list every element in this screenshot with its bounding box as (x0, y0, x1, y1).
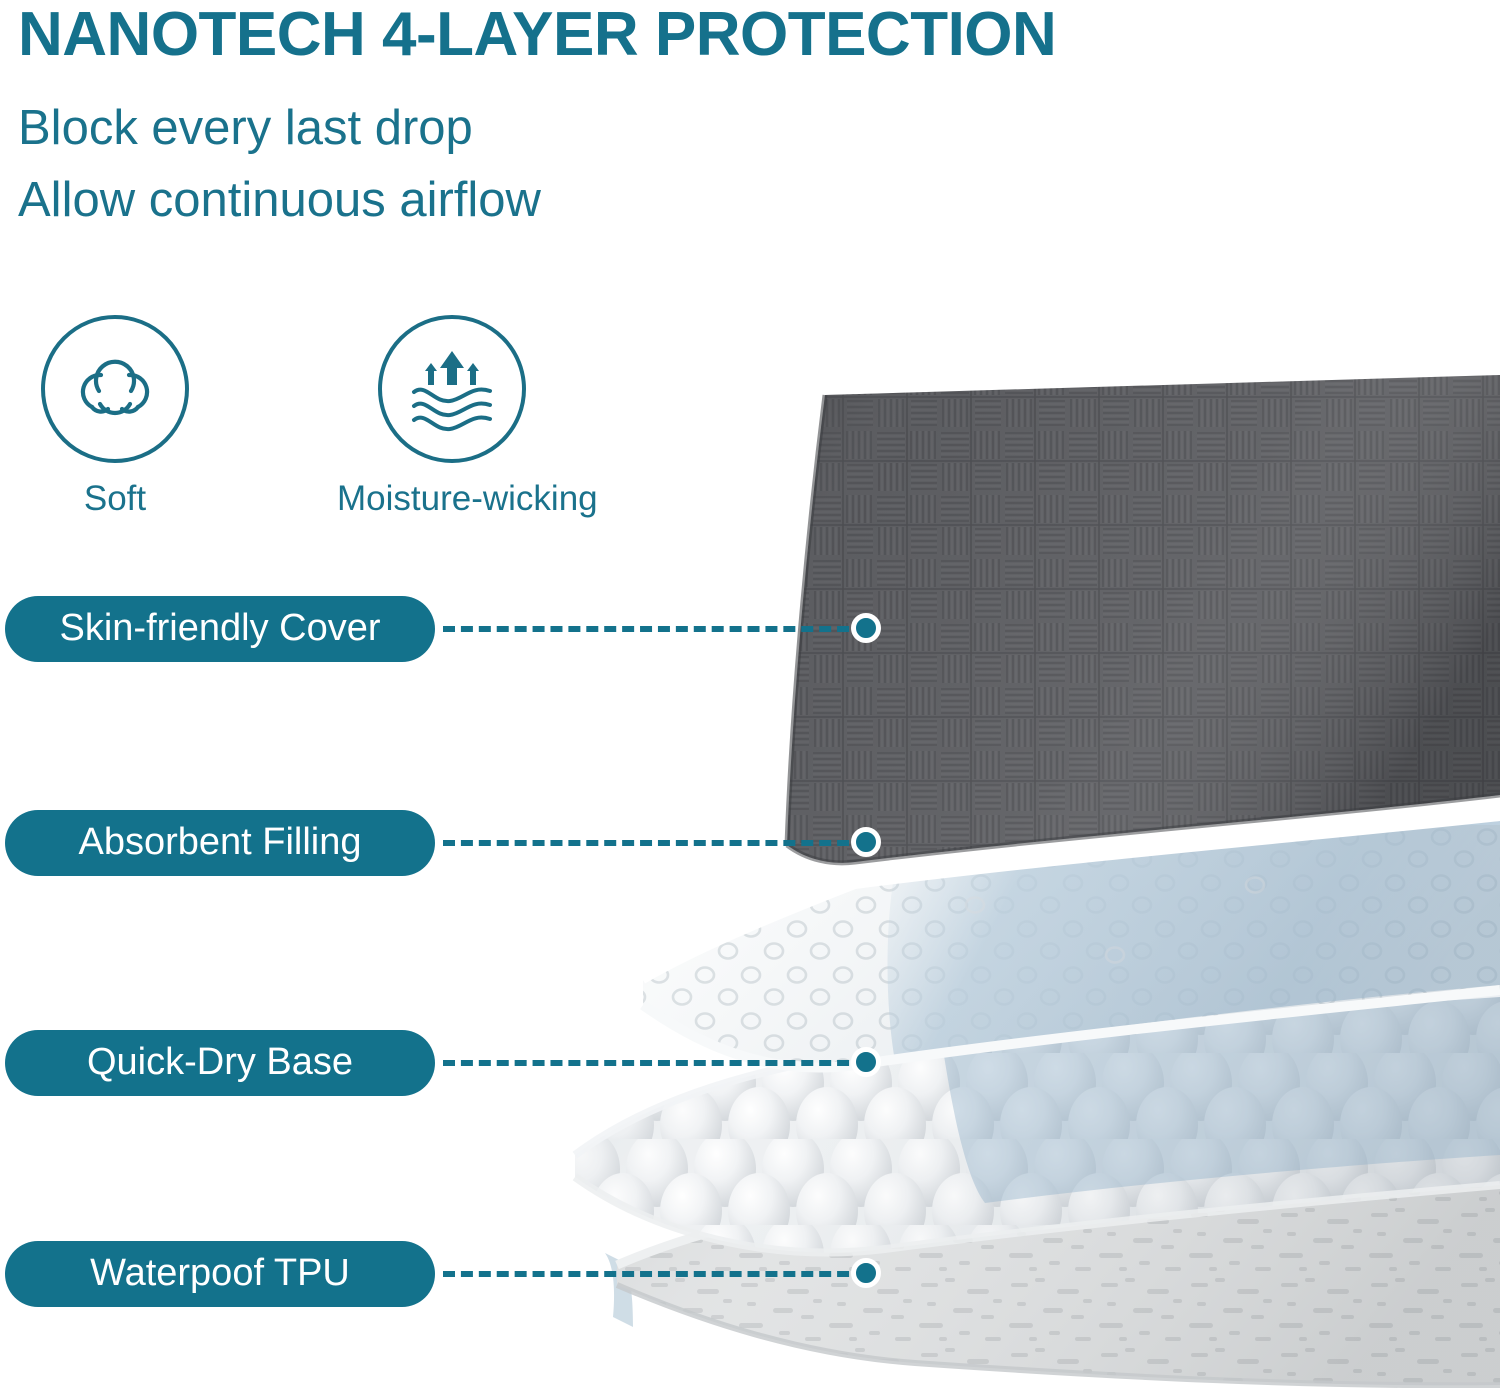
leader-line-absorbent-filling (443, 840, 867, 846)
leader-line-waterproof-tpu (443, 1271, 867, 1277)
feature-label-soft: Soft (0, 479, 230, 519)
leader-line-quick-dry-base (443, 1060, 867, 1066)
leader-dot-quick-dry-base (851, 1047, 881, 1077)
moisture-wicking-icon (400, 335, 504, 444)
subtitle-line-1: Block every last drop (18, 104, 473, 153)
product-infographic: NANOTECH 4-LAYER PROTECTION Block every … (0, 0, 1500, 1388)
leader-dot-skin-friendly-cover (851, 613, 881, 643)
feature-badge-soft: Soft (0, 315, 230, 519)
page-title: NANOTECH 4-LAYER PROTECTION (18, 2, 1056, 67)
product-layer-illustration (555, 365, 1500, 1388)
feature-circle-soft (41, 315, 189, 463)
layer-label-quick-dry-base[interactable]: Quick-Dry Base (5, 1030, 435, 1096)
leader-line-skin-friendly-cover (443, 626, 867, 632)
leader-dot-absorbent-filling (851, 827, 881, 857)
feature-circle-moisture-wicking (378, 315, 526, 463)
cloud-soft-icon (63, 335, 167, 444)
feature-badge-moisture-wicking: Moisture-wicking (337, 315, 567, 519)
layer-label-absorbent-filling[interactable]: Absorbent Filling (5, 810, 435, 876)
layer-label-skin-friendly-cover[interactable]: Skin-friendly Cover (5, 596, 435, 662)
layer-label-waterproof-tpu[interactable]: Waterpoof TPU (5, 1241, 435, 1307)
subtitle-line-2: Allow continuous airflow (18, 176, 541, 225)
leader-dot-waterproof-tpu (851, 1258, 881, 1288)
feature-label-moisture-wicking: Moisture-wicking (337, 479, 567, 519)
